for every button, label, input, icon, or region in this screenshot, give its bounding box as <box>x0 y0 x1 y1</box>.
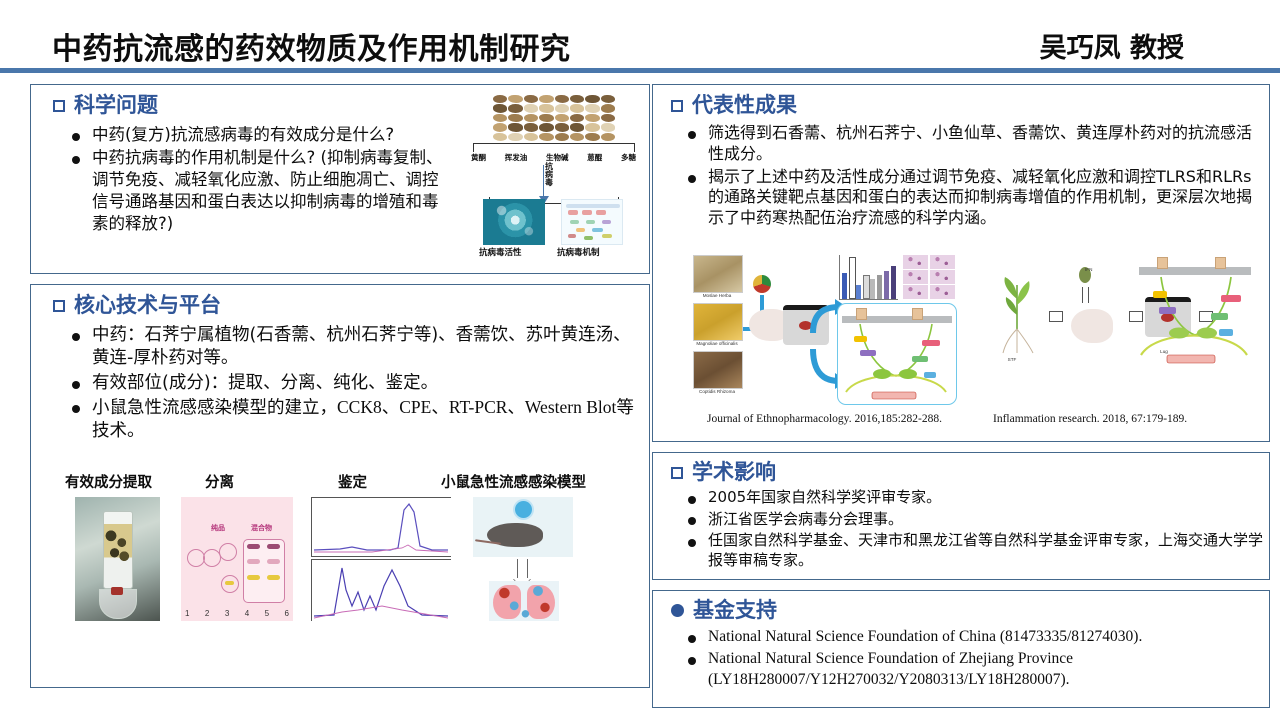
figure-inflammation-research: STF IFN Lug <box>983 253 1255 408</box>
herb-photo-coptidis <box>693 351 743 389</box>
square-bullet-icon <box>671 467 683 479</box>
slide: 中药抗流感的药效物质及作用机制研究 吴巧凤 教授 科学问题 中药(复方)抗流感病… <box>0 0 1280 720</box>
lung-illustration <box>489 581 559 621</box>
list-item: 2005年国家自然科学奖评审专家。 <box>683 488 1263 508</box>
citation-inflammation-research: Inflammation research. 2018, 67:179-189. <box>993 413 1187 425</box>
component-label: 挥发油 <box>505 152 528 163</box>
label-ifn: IFN <box>1067 267 1125 272</box>
list-item: 中药：石荠宁属植物(石香薷、杭州石荠宁等)、香薷饮、苏叶黄连汤、黄连-厚朴药对等… <box>67 324 642 370</box>
figure-ethnopharmacology: Moslae Herba Magnoliae officinalis Copti… <box>687 253 955 408</box>
section-title: 基金支持 <box>693 600 777 621</box>
signalling-pathway-diagram <box>1133 253 1255 373</box>
chromatogram-images <box>311 497 451 621</box>
scientific-question-list: 中药(复方)抗流感病毒的有效成分是什么? 中药抗病毒的作用机制是什么? (抑制病… <box>67 124 447 236</box>
results-figure-row: Moslae Herba Magnoliae officinalis Copti… <box>667 253 1259 408</box>
section-title: 科学问题 <box>74 95 158 116</box>
workflow-label-extraction: 有效成分提取 <box>65 471 152 492</box>
tlc-label-pure: 纯品 <box>211 523 225 533</box>
section-title: 学术影响 <box>692 462 776 483</box>
page-title: 中药抗流感的药效物质及作用机制研究 <box>52 24 571 68</box>
section-heading-representative-results: 代表性成果 <box>671 95 797 116</box>
component-label: 多糖 <box>621 152 636 163</box>
herb-caption: Moslae Herba <box>688 293 746 298</box>
square-bullet-icon <box>53 100 65 112</box>
section-heading-scientific-question: 科学问题 <box>53 95 158 116</box>
list-item: National Natural Science Foundation of Z… <box>683 649 1263 691</box>
herb-caption: Magnoliae officinalis <box>688 341 746 346</box>
list-item: 揭示了上述中药及活性成分通过调节免疫、减轻氧化应激和调控TLRS和RLRs的通路… <box>683 167 1261 229</box>
chromatogram-top <box>311 497 451 557</box>
list-item: 中药抗病毒的作用机制是什么? (抑制病毒复制、调节免疫、减轻氧化应激、防止细胞凋… <box>67 147 447 235</box>
panel-scientific-question: 科学问题 中药(复方)抗流感病毒的有效成分是什么? 中药抗病毒的作用机制是什么?… <box>30 84 650 274</box>
panel-core-technology: 核心技术与平台 中药：石荠宁属植物(石香薷、杭州石荠宁等)、香薷饮、苏叶黄连汤、… <box>30 284 650 688</box>
lane-number: 1 <box>185 609 189 618</box>
herb-photo-moslae <box>693 255 743 293</box>
virus-icon <box>515 501 532 518</box>
pathway-graphic <box>1133 273 1255 369</box>
mouse-infection-model-image <box>473 497 573 621</box>
square-bullet-icon <box>671 100 683 112</box>
chromatogram-trace <box>312 560 450 620</box>
plant-caption: STF <box>983 357 1041 362</box>
list-item: 小鼠急性流感感染模型的建立，CCK8、CPE、RT-PCR、Western Bl… <box>67 396 642 442</box>
funding-list: National Natural Science Foundation of C… <box>683 627 1263 691</box>
list-item: 中药(复方)抗流感病毒的有效成分是什么? <box>67 124 447 146</box>
pathway-mechanism-image <box>561 199 623 245</box>
section-title: 代表性成果 <box>692 95 797 116</box>
workflow-label-mouse-model: 小鼠急性流感感染模型 <box>441 471 586 492</box>
component-label-row: 黄酮 挥发油 生物碱 蒽醌 多糖 <box>471 152 636 163</box>
workflow-label-separation: 分离 <box>205 471 234 492</box>
chromatogram-trace <box>312 498 450 554</box>
tlc-lane-numbers: 1 2 3 4 5 6 <box>185 609 289 618</box>
header-divider-rule <box>0 68 1280 73</box>
right-arrow-icon <box>1049 311 1063 322</box>
component-label: 蒽醌 <box>587 152 602 163</box>
core-technology-list: 中药：石荠宁属植物(石香薷、杭州石荠宁等)、香薷饮、苏叶黄连汤、黄连-厚朴药对等… <box>67 324 642 444</box>
list-item: 任国家自然科学基金、天津市和黑龙江省等自然科学基金评审专家，上海交通大学学报等审… <box>683 531 1263 570</box>
panel-academic-impact: 学术影响 2005年国家自然科学奖评审专家。 浙江省医学会病毒分会理事。 任国家… <box>652 452 1270 580</box>
capsule-icon <box>753 275 771 293</box>
section-heading-academic-impact: 学术影响 <box>671 462 776 483</box>
academic-impact-list: 2005年国家自然科学奖评审专家。 浙江省医学会病毒分会理事。 任国家自然科学基… <box>683 488 1263 572</box>
lane-number: 2 <box>205 609 209 618</box>
workflow-label-row: 有效成分提取 分离 鉴定 小鼠急性流感感染模型 <box>53 471 633 493</box>
mouse-illustration <box>1071 309 1113 343</box>
tlc-separation-image: 纯品 混合物 1 2 3 4 5 <box>181 497 293 621</box>
virus-particle-image <box>483 199 545 245</box>
circle-bullet-icon <box>671 604 684 617</box>
section-title: 核心技术与平台 <box>74 295 221 316</box>
panel-representative-results: 代表性成果 筛选得到石香薷、杭州石荠宁、小鱼仙草、香薷饮、黄连厚朴药对的抗流感活… <box>652 84 1270 442</box>
plant-photo <box>989 271 1045 355</box>
author-name: 吴巧凤 教授 <box>1040 26 1184 65</box>
down-arrow-icon <box>1082 287 1089 303</box>
caption-antiviral-activity: 抗病毒活性 <box>479 246 522 258</box>
tlc-label-mixture: 混合物 <box>251 523 272 533</box>
signalling-pathway-diagram <box>837 303 957 405</box>
representative-results-list: 筛选得到石香薷、杭州石荠宁、小鱼仙草、香薷饮、黄连厚朴药对的抗流感活性成分。 揭… <box>683 123 1261 231</box>
plant-graphic <box>989 271 1045 355</box>
lane-number: 5 <box>265 609 269 618</box>
chromatogram-bottom <box>311 559 451 621</box>
citation-ethnopharmacology: Journal of Ethnopharmacology. 2016,185:2… <box>707 413 942 425</box>
herb-to-antiviral-diagram: 黄酮 挥发油 生物碱 蒽醌 多糖 抗病毒 抗病毒活性 抗病毒机制 <box>471 95 636 263</box>
workflow-image-row: 纯品 混合物 1 2 3 4 5 <box>53 497 633 622</box>
workflow-label-identification: 鉴定 <box>338 471 367 492</box>
pathway-graphic <box>838 318 954 404</box>
extraction-apparatus-photo <box>75 497 160 621</box>
list-item: 筛选得到石香薷、杭州石荠宁、小鱼仙草、香薷饮、黄连厚朴药对的抗流感活性成分。 <box>683 123 1261 165</box>
herb-photo-magnoliae <box>693 303 743 341</box>
histology-micrographs <box>903 255 955 299</box>
arrow-label-antiviral: 抗病毒 <box>545 163 559 188</box>
component-label: 黄酮 <box>471 152 486 163</box>
panel-funding: 基金支持 National Natural Science Foundation… <box>652 590 1270 708</box>
lane-number: 3 <box>225 609 229 618</box>
lane-number: 6 <box>285 609 289 618</box>
section-heading-funding: 基金支持 <box>671 600 777 621</box>
herb-specimen-grid-image <box>493 95 615 141</box>
caption-antiviral-mechanism: 抗病毒机制 <box>557 246 600 258</box>
square-bullet-icon <box>53 300 65 312</box>
list-item: National Natural Science Foundation of C… <box>683 627 1263 648</box>
bar-chart-thumbnail <box>839 255 898 300</box>
slide-header: 中药抗流感的药效物质及作用机制研究 吴巧凤 教授 <box>0 0 1280 72</box>
list-item: 有效部位(成分)：提取、分离、纯化、鉴定。 <box>67 372 642 395</box>
section-heading-core-technology: 核心技术与平台 <box>53 295 221 316</box>
lane-number: 4 <box>245 609 249 618</box>
component-brace <box>473 143 635 152</box>
down-arrow-icon <box>517 559 528 579</box>
herb-caption: Coptidis Rhizoma <box>688 389 746 394</box>
list-item: 浙江省医学会病毒分会理事。 <box>683 510 1263 530</box>
